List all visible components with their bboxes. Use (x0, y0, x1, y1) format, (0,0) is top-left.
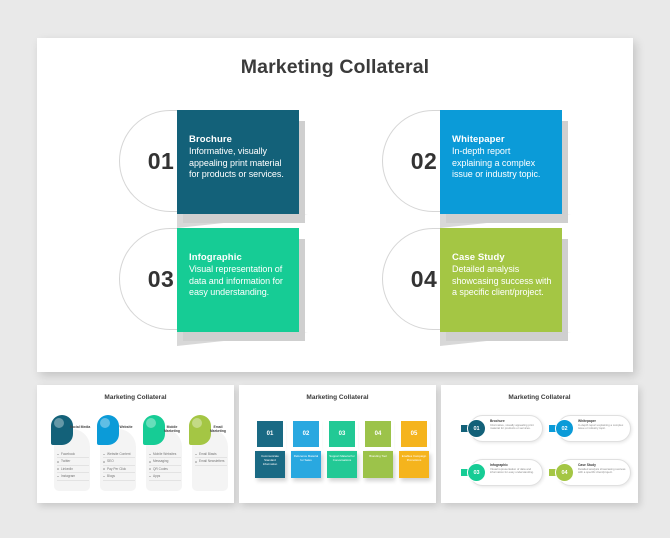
channel-icon (192, 418, 202, 428)
item-card[interactable]: Brochure Informative, visually appealing… (177, 110, 299, 214)
channel-icon (100, 418, 110, 428)
thumbnail-title: Marketing Collateral (441, 394, 638, 401)
item-description: Visual representation of data and inform… (189, 264, 289, 299)
block-number: 02 (293, 421, 319, 447)
thumbnail-title: Marketing Collateral (37, 394, 234, 401)
item-card[interactable]: Whitepaper In-depth report explaining a … (440, 110, 562, 214)
item-description: Informative, visually appealing print ma… (189, 146, 289, 181)
item-card[interactable]: Case Study Detailed analysis showcasing … (440, 228, 562, 332)
column-label: Mobile Marketing (161, 425, 183, 434)
list-item: Mobile Websites (149, 451, 181, 458)
column-list: FacebookTwitterLinkedInInstagram (57, 451, 89, 481)
collateral-item-04[interactable]: 04 Case Study Detailed analysis showcasi… (382, 228, 582, 346)
block-caption: Support Material for Conversations (327, 451, 357, 478)
item-card[interactable]: Infographic Visual representation of dat… (177, 228, 299, 332)
pill-row[interactable]: 03InfographicVisual representation of da… (461, 459, 543, 486)
block-caption: Enables Campaign Promotions (399, 451, 429, 478)
list-item: Messaging (149, 458, 181, 465)
block-caption: Reference Material for Sales (291, 451, 321, 478)
pill-row[interactable]: 01BrochureInformative, visually appealin… (461, 415, 543, 442)
row-text: InfographicVisual representation of data… (490, 463, 540, 475)
list-item: Email Blasts (195, 451, 227, 458)
column-list: Mobile WebsitesMessagingQR CodesApps (149, 451, 181, 481)
block-number: 05 (401, 421, 427, 447)
list-item: SEO (103, 458, 135, 465)
slide-preview-root: Marketing Collateral 01 Brochure Informa… (0, 0, 670, 538)
row-number: 03 (467, 463, 486, 482)
row-number: 04 (555, 463, 574, 482)
row-number: 02 (555, 419, 574, 438)
thumbnail-slide-1[interactable]: Marketing Collateral Social MediaFaceboo… (37, 385, 234, 503)
item-title: Whitepaper (452, 134, 552, 145)
row-description: Detailed analysis showcasing success wit… (578, 468, 628, 475)
column-list: Website ContentSEOPay Per ClickBlogs (103, 451, 135, 481)
item-title: Brochure (189, 134, 289, 145)
item-title: Case Study (452, 252, 552, 263)
row-description: In-depth report explaining a complex iss… (578, 424, 628, 431)
pill-row[interactable]: 02WhitepaperIn-depth report explaining a… (549, 415, 631, 442)
list-item: Blogs (103, 473, 135, 480)
main-slide[interactable]: Marketing Collateral 01 Brochure Informa… (37, 38, 633, 372)
column-label: Website (115, 425, 137, 429)
item-description: In-depth report explaining a complex iss… (452, 146, 552, 181)
list-item: Email Newsletters (195, 458, 227, 465)
teardrop-icon (51, 415, 73, 445)
row-number: 01 (467, 419, 486, 438)
row-text: Case StudyDetailed analysis showcasing s… (578, 463, 628, 475)
collateral-item-03[interactable]: 03 Infographic Visual representation of … (119, 228, 319, 346)
list-item: Apps (149, 473, 181, 480)
column-label: Email Marketing (207, 425, 229, 434)
block-caption: Communicate Standard Information (255, 451, 285, 478)
list-item: LinkedIn (57, 466, 89, 473)
teardrop-icon (97, 415, 119, 445)
page-title: Marketing Collateral (37, 56, 633, 79)
collateral-item-02[interactable]: 02 Whitepaper In-depth report explaining… (382, 110, 582, 228)
row-text: BrochureInformative, visually appealing … (490, 419, 540, 431)
channel-icon (54, 418, 64, 428)
list-item: QR Codes (149, 466, 181, 473)
row-description: Visual representation of data and inform… (490, 468, 540, 475)
list-item: Website Content (103, 451, 135, 458)
block-number: 03 (329, 421, 355, 447)
block-caption: Branding Tool (363, 451, 393, 478)
pill-row[interactable]: 04Case StudyDetailed analysis showcasing… (549, 459, 631, 486)
thumbnail-title: Marketing Collateral (239, 394, 436, 401)
row-description: Informative, visually appealing print ma… (490, 424, 540, 431)
list-item: Twitter (57, 458, 89, 465)
block-number: 01 (257, 421, 283, 447)
row-text: WhitepaperIn-depth report explaining a c… (578, 419, 628, 431)
item-title: Infographic (189, 252, 289, 263)
block-number: 04 (365, 421, 391, 447)
collateral-item-01[interactable]: 01 Brochure Informative, visually appeal… (119, 110, 319, 228)
column-list: Email BlastsEmail Newsletters (195, 451, 227, 466)
list-item: Facebook (57, 451, 89, 458)
item-description: Detailed analysis showcasing success wit… (452, 264, 552, 299)
thumbnail-slide-2[interactable]: Marketing Collateral 01Communicate Stand… (239, 385, 436, 503)
channel-icon (146, 418, 156, 428)
column-label: Social Media (69, 425, 91, 429)
list-item: Pay Per Click (103, 466, 135, 473)
list-item: Instagram (57, 473, 89, 480)
thumbnail-slide-3[interactable]: Marketing Collateral 01BrochureInformati… (441, 385, 638, 503)
